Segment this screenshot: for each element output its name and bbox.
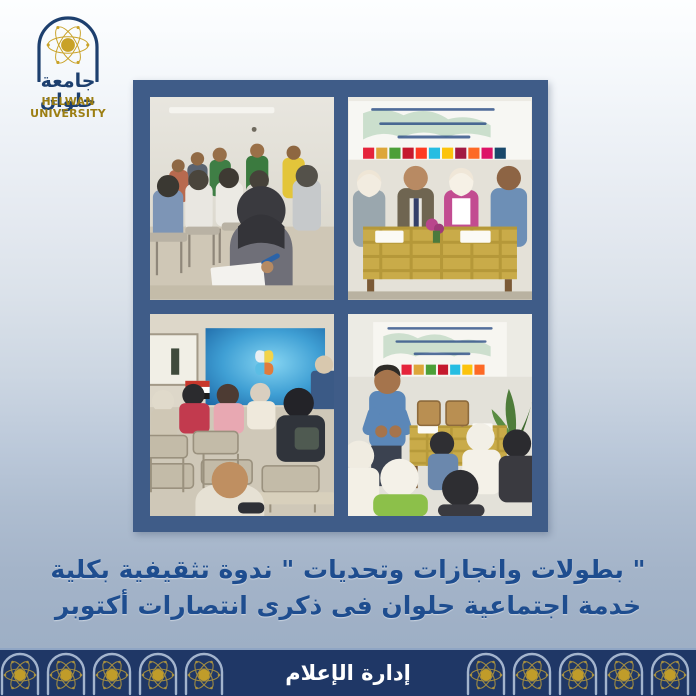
photo-lecture-hall-projector	[150, 314, 334, 517]
photo-classroom-audience	[150, 97, 334, 300]
footer-pattern-left-icon	[0, 650, 232, 696]
caption-line-1: " بطولات وانجازات وتحديات " ندوة تثقيفية…	[28, 552, 668, 588]
poster-caption: " بطولات وانجازات وتحديات " ندوة تثقيفية…	[28, 552, 668, 624]
atom-icon	[45, 22, 91, 68]
footer-pattern-right-icon	[464, 650, 696, 696]
logo-name-english: HELWAN UNIVERSITY	[12, 96, 124, 120]
poster-canvas: جامعة حلوان HELWAN UNIVERSITY	[0, 0, 696, 696]
helwan-university-logo: جامعة حلوان HELWAN UNIVERSITY	[14, 12, 122, 116]
photo-panel-speakers	[348, 97, 532, 300]
photo-standing-presenter	[348, 314, 532, 517]
photo-collage-grid	[150, 97, 532, 516]
footer-title: إدارة الإعلام	[263, 661, 433, 685]
photo-collage-frame	[133, 80, 548, 532]
caption-line-2: خدمة اجتماعية حلوان فى ذكرى انتصارات أكت…	[28, 588, 668, 624]
footer-bar: إدارة الإعلام	[0, 648, 696, 696]
